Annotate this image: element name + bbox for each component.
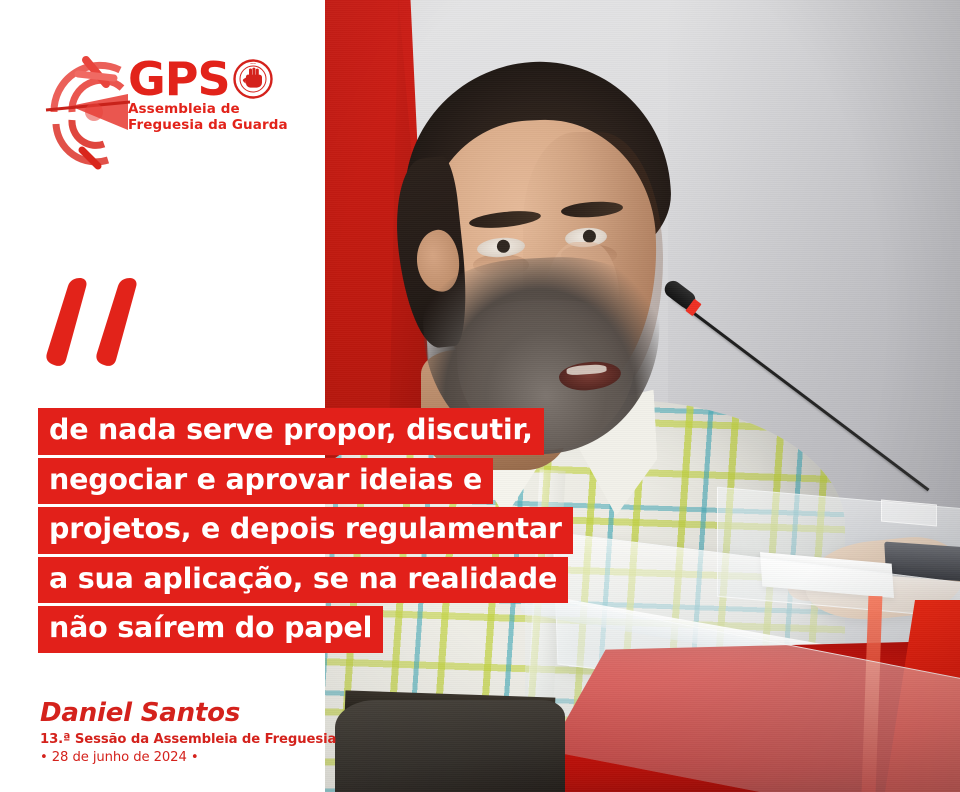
session-date: • 28 de junho de 2024 • (40, 750, 320, 767)
quote-line: de nada serve propor, discutir, (38, 408, 544, 455)
attribution-block: Daniel Santos 13.ª Sessão da Assembleia … (40, 700, 320, 767)
gps-radial-mark-icon (42, 54, 134, 170)
trousers (335, 700, 565, 792)
photo-content (325, 0, 960, 792)
gps-acronym-row: GPS (128, 58, 298, 101)
double-quote-icon (44, 276, 164, 368)
quote-line: não saírem do papel (38, 606, 383, 653)
gps-acronym: GPS (128, 58, 230, 101)
logo-subtitle-line1: Assembleia de (128, 102, 298, 117)
quote-line: negociar e aprovar ideias e (38, 458, 493, 505)
session-label: 13.ª Sessão da Assembleia de Freguesia (40, 732, 320, 749)
left-panel: GPS (0, 0, 325, 792)
gps-logo[interactable]: GPS (42, 52, 292, 170)
teeth (566, 364, 607, 376)
gps-wordmark: GPS (128, 58, 298, 133)
raised-fist-emblem-icon: ••• (233, 59, 273, 99)
logo-subtitle-line2: Freguesia da Guarda (128, 118, 298, 133)
quote-line: projetos, e depois regulamentar (38, 507, 573, 554)
speaker-photo (325, 0, 960, 792)
quote-card: GPS (0, 0, 960, 792)
quote-text-block: de nada serve propor, discutir, negociar… (38, 408, 638, 656)
speaker-name: Daniel Santos (40, 700, 320, 728)
svg-text:•••: ••• (250, 61, 256, 65)
quote-line: a sua aplicação, se na realidade (38, 557, 568, 604)
pupil-left (497, 239, 511, 253)
head (403, 62, 669, 392)
